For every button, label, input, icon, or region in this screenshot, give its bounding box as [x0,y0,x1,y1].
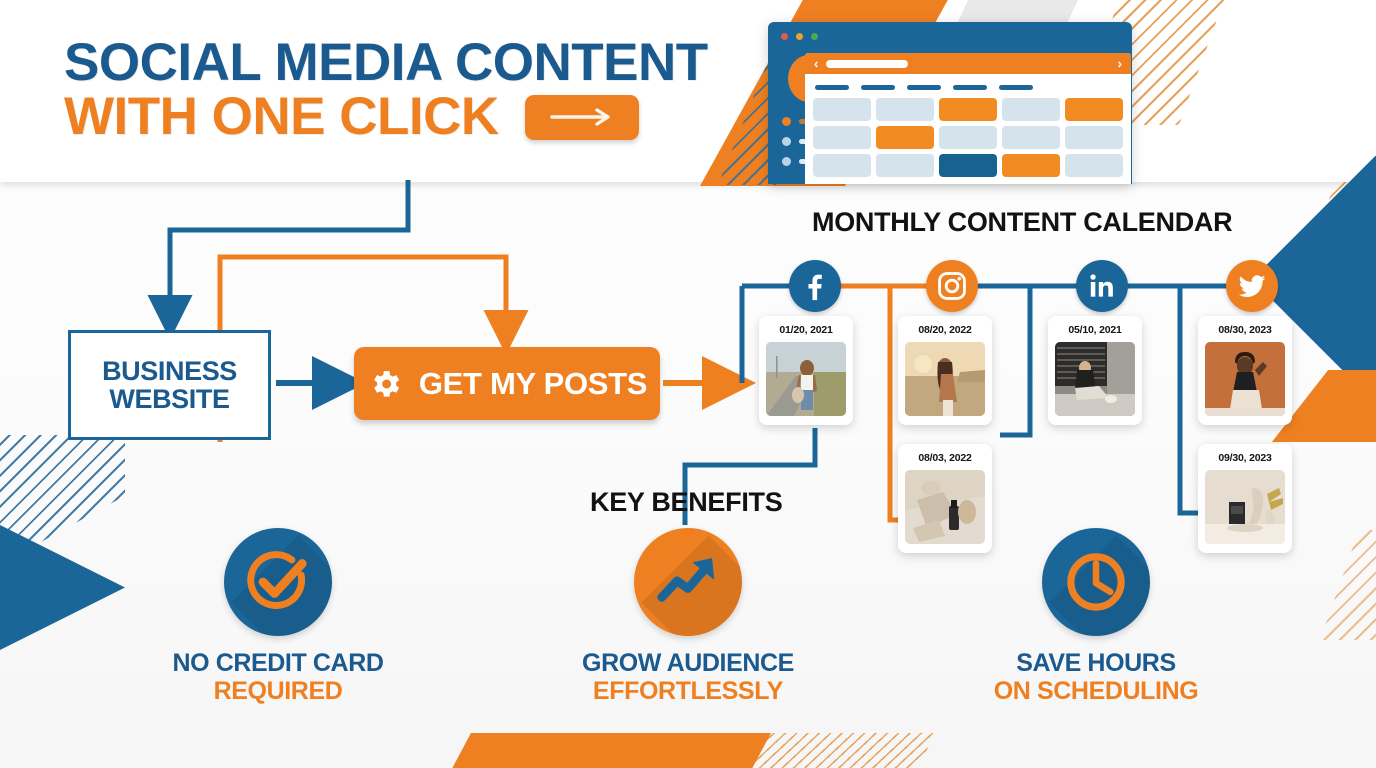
calendar-cell-orange[interactable] [939,98,997,121]
calendar-cell-plain[interactable] [813,154,871,177]
window-traffic-lights [781,33,818,40]
calendar-cell-plain[interactable] [1002,126,1060,149]
calendar-section-heading: MONTHLY CONTENT CALENDAR [812,207,1232,238]
calendar-cell-plain[interactable] [813,98,871,121]
post-image-woman-orange-bg [1205,342,1285,416]
decor-stripes-bottom-orange [719,733,936,768]
calendar-grid [805,90,1131,177]
benefit-title: GROW AUDIENCE [538,650,838,677]
facebook-icon [798,269,832,303]
post-card[interactable]: 08/20, 2022 [898,316,992,425]
post-date: 01/20, 2021 [766,324,846,336]
calendar-cell-plain[interactable] [1065,154,1123,177]
business-website-line2: WEBSITE [109,385,229,413]
post-card[interactable]: 08/30, 2023 [1198,316,1292,425]
platform-icon-facebook[interactable] [789,260,841,312]
clock-icon [1061,547,1131,617]
minimize-dot-icon [796,33,803,40]
calendar-cell-orange[interactable] [1002,154,1060,177]
post-image-woman-sunset [905,342,985,416]
weekday-header [861,85,895,90]
post-image-woman-road [766,342,846,416]
weekday-header [815,85,849,90]
linkedin-icon [1086,270,1118,302]
weekday-header [907,85,941,90]
bullet-icon [782,137,791,146]
post-image-woman-street [1055,342,1135,416]
post-date: 05/10, 2021 [1055,324,1135,336]
calendar-cell-blue[interactable] [939,154,997,177]
post-thumbnail [766,342,846,416]
page-title-line1: SOCIAL MEDIA CONTENT [64,38,708,89]
calendar-cell-plain[interactable] [939,126,997,149]
benefit-title: SAVE HOURS [946,650,1246,677]
maximize-dot-icon [811,33,818,40]
connector-linkedin-vertical [1000,286,1030,435]
check-circle-icon [241,545,315,619]
post-thumbnail [905,342,985,416]
calendar-weekday-headers [805,74,1131,90]
post-thumbnail [1205,342,1285,416]
benefits-section-heading: KEY BENEFITS [590,487,782,518]
browser-mockup: ‹ › [768,22,1132,184]
browser-url-bar: ‹ › [805,53,1131,74]
twitter-icon [1236,270,1268,302]
platform-icon-instagram[interactable] [926,260,978,312]
post-date: 08/20, 2022 [905,324,985,336]
page-title-line2: WITH ONE CLICK [64,92,499,143]
benefit-no-credit-card: NO CREDIT CARD REQUIRED [128,528,428,705]
calendar-cell-orange[interactable] [876,126,934,149]
infographic-canvas: SOCIAL MEDIA CONTENT WITH ONE CLICK [0,0,1376,768]
platform-icon-linkedin[interactable] [1076,260,1128,312]
chevron-right-icon: › [1118,57,1122,70]
browser-content-panel: ‹ › [805,53,1131,184]
weekday-header [953,85,987,90]
benefit-icon-wrapper [634,528,742,636]
connector-header-to-website [170,180,408,315]
cta-arrow-button[interactable] [525,95,639,140]
benefit-subtitle: ON SCHEDULING [946,677,1246,705]
weekday-header [999,85,1033,90]
benefit-grow-audience: GROW AUDIENCE EFFORTLESSLY [538,528,838,705]
post-date: 09/30, 2023 [1205,452,1285,464]
arrow-right-icon [548,107,616,127]
calendar-cell-plain[interactable] [813,126,871,149]
close-dot-icon [781,33,788,40]
gear-icon [367,366,403,402]
calendar-cell-orange[interactable] [1065,98,1123,121]
post-date: 08/30, 2023 [1205,324,1285,336]
bullet-icon [782,117,791,126]
bullet-icon [782,157,791,166]
header-title-block: SOCIAL MEDIA CONTENT WITH ONE CLICK [64,38,708,143]
decor-parallelogram-bottom-orange [439,733,771,768]
post-thumbnail [1055,342,1135,416]
chevron-left-icon: ‹ [814,57,818,70]
business-website-line1: BUSINESS [102,357,237,385]
post-date: 08/03, 2022 [905,452,985,464]
benefit-icon-wrapper [1042,528,1150,636]
business-website-box[interactable]: BUSINESS WEBSITE [68,330,271,440]
benefit-title: NO CREDIT CARD [128,650,428,677]
trending-up-icon [653,547,723,617]
platform-icon-twitter[interactable] [1226,260,1278,312]
calendar-cell-plain[interactable] [876,98,934,121]
instagram-icon [935,269,969,303]
post-card[interactable]: 01/20, 2021 [759,316,853,425]
calendar-cell-plain[interactable] [1002,98,1060,121]
get-my-posts-button[interactable]: GET MY POSTS [354,347,660,420]
post-card[interactable]: 05/10, 2021 [1048,316,1142,425]
get-my-posts-label: GET MY POSTS [419,366,647,402]
benefit-icon-wrapper [224,528,332,636]
calendar-cell-plain[interactable] [1065,126,1123,149]
calendar-cell-plain[interactable] [876,154,934,177]
benefit-subtitle: REQUIRED [128,677,428,705]
benefit-save-hours: SAVE HOURS ON SCHEDULING [946,528,1246,705]
url-input [826,60,908,68]
benefit-subtitle: EFFORTLESSLY [538,677,838,705]
